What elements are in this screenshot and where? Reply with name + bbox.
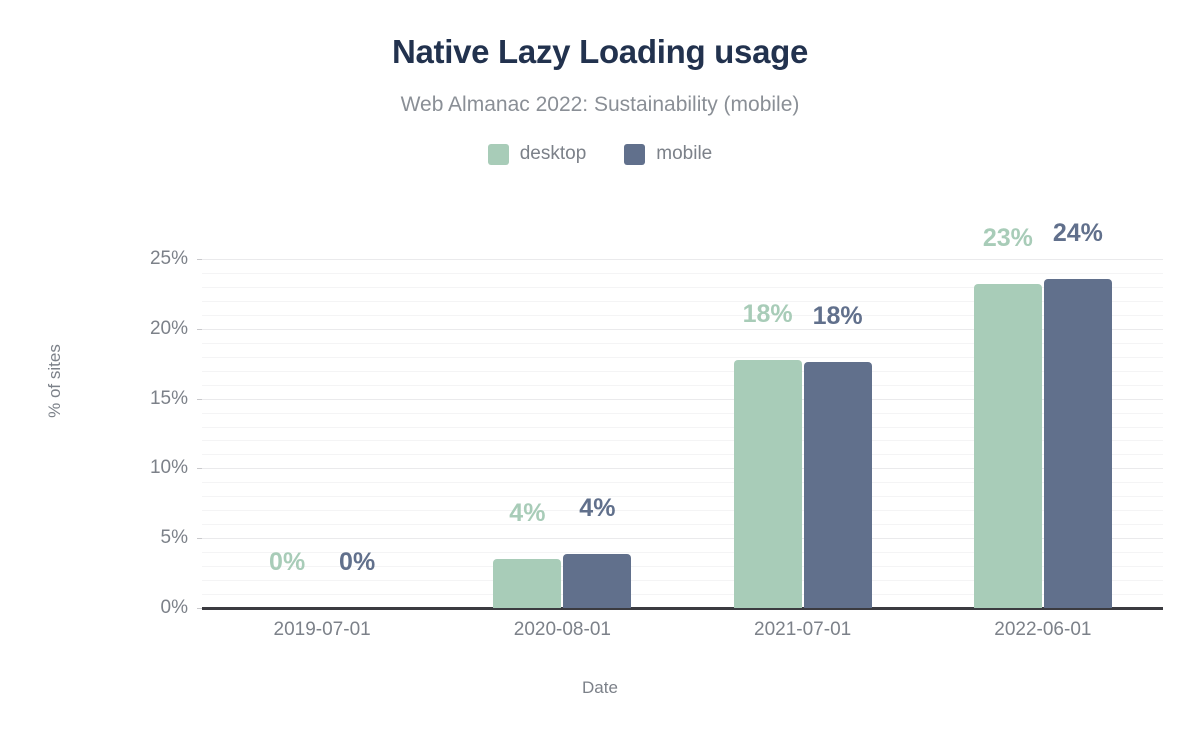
y-axis-tick-labels: 0%5%10%15%20%25% (120, 0, 188, 742)
y-axis-tick-mark (197, 329, 202, 330)
y-axis-tick-label: 20% (128, 318, 188, 340)
bar-mobile-2020-08-01[interactable] (563, 554, 631, 608)
y-axis-tick-mark (197, 538, 202, 539)
legend-item-desktop[interactable]: desktop (488, 143, 587, 165)
bar-label-mobile-2019-07-01: 0% (339, 548, 375, 577)
legend-swatch-mobile (624, 144, 645, 165)
bar-desktop-2020-08-01[interactable] (493, 559, 561, 608)
bar-desktop-2022-06-01[interactable] (974, 284, 1042, 608)
bar-mobile-2021-07-01[interactable] (804, 362, 872, 608)
bar-mobile-2022-06-01[interactable] (1044, 279, 1112, 608)
x-axis-tick-label: 2020-08-01 (514, 619, 611, 641)
bar-label-desktop-2022-06-01: 23% (983, 224, 1033, 253)
y-axis-tick-mark (197, 608, 202, 609)
y-axis-tick-mark (197, 399, 202, 400)
bar-chart: Native Lazy Loading usage Web Almanac 20… (0, 0, 1200, 742)
x-axis-tick-label: 2022-06-01 (994, 619, 1091, 641)
bar-label-desktop-2021-07-01: 18% (743, 300, 793, 329)
legend-label-desktop: desktop (520, 143, 587, 165)
y-axis-tick-mark (197, 259, 202, 260)
x-axis-title: Date (0, 678, 1200, 698)
y-axis-tick-label: 25% (128, 248, 188, 270)
gridline-major (202, 259, 1163, 260)
bar-desktop-2021-07-01[interactable] (734, 360, 802, 608)
gridline-minor (202, 273, 1163, 274)
bar-label-mobile-2022-06-01: 24% (1053, 219, 1103, 248)
legend-item-mobile[interactable]: mobile (624, 143, 712, 165)
bar-label-desktop-2019-07-01: 0% (269, 548, 305, 577)
legend-label-mobile: mobile (656, 143, 712, 165)
y-axis-title: % of sites (45, 321, 65, 441)
bar-label-mobile-2021-07-01: 18% (813, 302, 863, 331)
y-axis-tick-label: 10% (128, 457, 188, 479)
y-axis-tick-label: 15% (128, 388, 188, 410)
x-axis-tick-label: 2021-07-01 (754, 619, 851, 641)
bar-label-desktop-2020-08-01: 4% (509, 499, 545, 528)
legend-swatch-desktop (488, 144, 509, 165)
x-axis-tick-label: 2019-07-01 (274, 619, 371, 641)
y-axis-tick-label: 5% (128, 527, 188, 549)
bar-label-mobile-2020-08-01: 4% (579, 494, 615, 523)
y-axis-tick-mark (197, 468, 202, 469)
y-axis-tick-label: 0% (128, 597, 188, 619)
